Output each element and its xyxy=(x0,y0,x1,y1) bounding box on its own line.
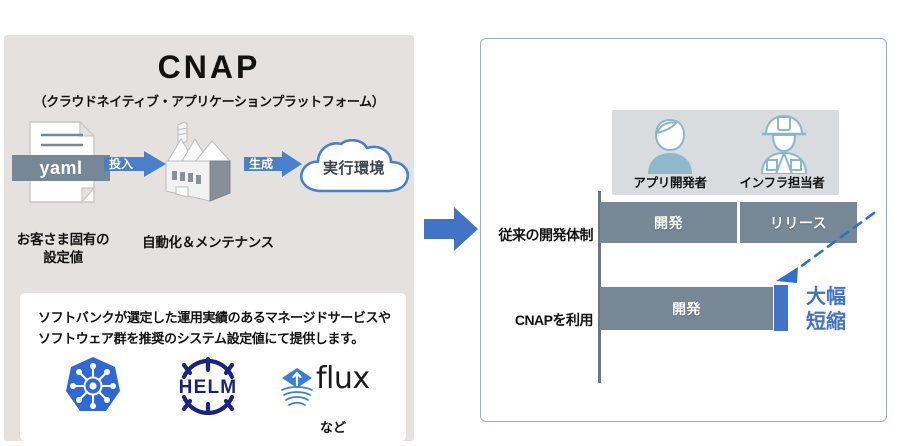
process-label: 自動化＆メンテナンス xyxy=(122,231,294,251)
source-label: お客さま固有の 設定値 xyxy=(4,231,122,267)
arrow-input-label: 投入 xyxy=(104,151,133,177)
helm-logo: HELM xyxy=(162,357,254,415)
page-subtitle: （クラウドネイティブ・アプリケーションプラットフォーム） xyxy=(4,91,414,110)
source-label-line1: お客さま固有の xyxy=(4,231,122,249)
kubernetes-logo xyxy=(62,355,124,417)
yaml-document-icon: yaml xyxy=(26,120,98,204)
bar-cnap-develop: 開発 xyxy=(600,287,773,330)
cloud-label: 実行環境 xyxy=(296,139,412,195)
logo-row: HELM flux xyxy=(20,355,406,417)
card-description: ソフトバンクが選定した運用実績のあるマネージドサービスや ソフトウェア群を推奨の… xyxy=(38,307,394,349)
page-title: CNAP xyxy=(4,49,414,86)
flux-logo: flux xyxy=(278,363,388,409)
managed-services-card: ソフトバンクが選定した運用実績のあるマネージドサービスや ソフトウェア群を推奨の… xyxy=(20,293,406,441)
arrow-generate-label: 生成 xyxy=(244,151,273,177)
card-description-line2: ソフトウェア群を推奨のシステム設定値にて提供します。 xyxy=(38,328,394,349)
left-panel: CNAP （クラウドネイティブ・アプリケーションプラットフォーム） yaml 投… xyxy=(4,35,414,441)
yaml-badge: yaml xyxy=(12,155,110,181)
more-label: など xyxy=(320,417,400,436)
bar-label-develop-cnap: 開発 xyxy=(672,299,701,319)
annotation-line1: 大幅 xyxy=(806,285,880,310)
source-label-line2: 設定値 xyxy=(4,249,122,267)
comparison-bar-chart: 従来の開発体制 CNAPを利用 開発 リリース 開発 大幅 短縮 xyxy=(481,39,886,421)
helm-logo-text: HELM xyxy=(179,377,238,398)
annotation-shortened: 大幅 短縮 xyxy=(806,285,880,335)
arrow-generate: 生成 xyxy=(244,151,302,177)
flow-diagram: yaml 投入 xyxy=(4,117,414,217)
chart-row-label-conventional: 従来の開発体制 xyxy=(481,225,593,245)
chart-row-label-cnap: CNAPを利用 xyxy=(481,310,593,330)
dashed-arrow-icon xyxy=(756,209,881,294)
factory-icon xyxy=(154,117,240,207)
annotation-line2: 短縮 xyxy=(806,310,880,335)
right-arrow-icon xyxy=(424,206,478,252)
cloud-icon: 実行環境 xyxy=(296,139,412,195)
card-description-line1: ソフトバンクが選定した運用実績のあるマネージドサービスや xyxy=(38,307,394,328)
bar-label-develop: 開発 xyxy=(654,213,683,233)
right-panel: アプリ開発者 インフラ担当者 従来の開発体制 CNAPを利用 開発 リリース 開… xyxy=(480,38,887,422)
bar-conventional-develop: 開発 xyxy=(600,202,737,243)
flux-logo-text: flux xyxy=(316,361,370,396)
